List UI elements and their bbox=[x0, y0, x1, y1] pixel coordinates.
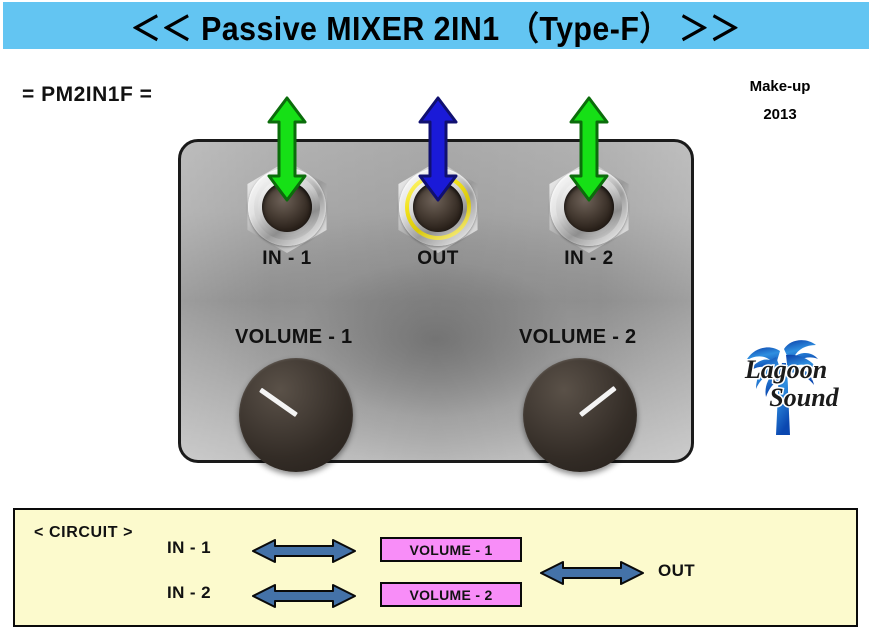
title-banner: ＜＜ Passive MIXER 2IN1 （Type-F） ＞＞ bbox=[3, 2, 869, 49]
jack-label-in-2: IN - 2 bbox=[509, 248, 669, 270]
knob-label-volume-1: VOLUME - 1 bbox=[235, 326, 352, 349]
circuit-volume-box-2: VOLUME - 2 bbox=[380, 582, 522, 607]
makeup-label: Make-up bbox=[725, 79, 835, 96]
circuit-title: < CIRCUIT > bbox=[34, 524, 133, 542]
page-title: ＜＜ Passive MIXER 2IN1 （Type-F） ＞＞ bbox=[131, 2, 741, 50]
signal-arrow-in-1-icon bbox=[266, 96, 308, 202]
logo-word-sound: Sound bbox=[740, 385, 868, 411]
signal-arrow-in-2-icon bbox=[568, 96, 610, 202]
model-code-label: = PM2IN1F = bbox=[22, 83, 152, 107]
jack-label-in-1: IN - 1 bbox=[207, 248, 367, 270]
knob-label-volume-2: VOLUME - 2 bbox=[519, 326, 636, 349]
circuit-input-label-1: IN - 1 bbox=[167, 538, 211, 558]
circuit-input-label-2: IN - 2 bbox=[167, 583, 211, 603]
jack-label-out: OUT bbox=[358, 248, 518, 270]
knob-volume-1[interactable] bbox=[239, 358, 353, 472]
knob-pointer bbox=[259, 388, 298, 417]
circuit-arrow-in1-to-vol1-icon bbox=[251, 538, 357, 564]
makeup-block: Make-up 2013 bbox=[725, 79, 835, 123]
circuit-arrow-to-out-icon bbox=[539, 560, 645, 586]
circuit-diagram-panel: < CIRCUIT > IN - 1 VOLUME - 1 IN - 2 VOL… bbox=[13, 508, 858, 627]
lagoon-sound-wordmark: Lagoon Sound bbox=[718, 357, 868, 411]
lagoon-sound-logo: Lagoon Sound bbox=[718, 333, 868, 438]
circuit-output-label: OUT bbox=[658, 561, 695, 581]
circuit-volume-box-1: VOLUME - 1 bbox=[380, 537, 522, 562]
knob-volume-2[interactable] bbox=[523, 358, 637, 472]
circuit-arrow-in2-to-vol2-icon bbox=[251, 583, 357, 609]
knob-pointer bbox=[578, 386, 616, 417]
signal-arrow-out-icon bbox=[417, 96, 459, 202]
makeup-year: 2013 bbox=[725, 107, 835, 124]
logo-word-lagoon: Lagoon bbox=[704, 357, 868, 383]
